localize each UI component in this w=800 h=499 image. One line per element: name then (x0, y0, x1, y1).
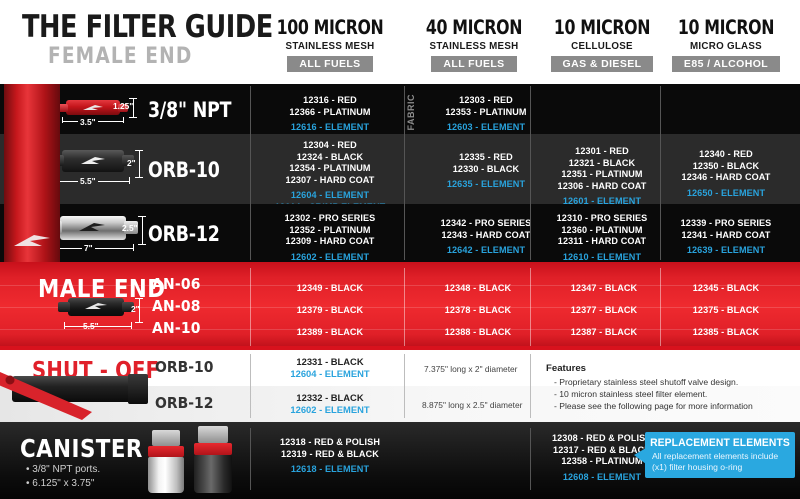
part-number: 12340 - RED (654, 148, 798, 160)
cell-orb12-100micron: 12302 - PRO SERIES 12352 - PLATINUM 1230… (256, 212, 404, 262)
brand-logo-icon (12, 233, 52, 249)
part-number-element: 12603 - ELEMENT (414, 121, 558, 133)
column-divider (530, 86, 531, 260)
column-subtitle: STAINLESS MESH (261, 40, 399, 52)
column-divider (250, 428, 251, 490)
row-label: ORB-10 (148, 158, 220, 182)
part-number: 12304 - RED (258, 139, 402, 151)
part-number: 12389 - BLACK (258, 321, 402, 343)
valve-handle-icon (0, 368, 106, 422)
column-header-40-micron: 40 MICRON STAINLESS MESH ALL FUELS (400, 18, 548, 72)
part-number: 12303 - RED (414, 94, 558, 106)
column-divider (404, 268, 405, 346)
column-badge: ALL FUELS (431, 56, 516, 72)
replacement-elements-callout: REPLACEMENT ELEMENTS All replacement ele… (645, 432, 795, 478)
part-number: 12302 - PRO SERIES (258, 212, 402, 224)
red-divider-top (0, 346, 800, 350)
column-subtitle: MICRO GLASS (657, 40, 795, 52)
row-label-shutoff-orb12: ORB-12 (155, 394, 213, 412)
cell-shutoff-orb12-parts: 12332 - BLACK 12602 - ELEMENT (256, 392, 404, 415)
part-number: 12375 - BLACK (654, 299, 798, 321)
part-number: 12316 - RED (258, 94, 402, 106)
part-number-element: 12639 - ELEMENT (654, 244, 798, 256)
part-number: 12352 - PLATINUM (258, 224, 402, 236)
part-number: 12345 - BLACK (654, 277, 798, 299)
section-title-male-end: MALE END (38, 274, 165, 303)
column-header-100-micron: 100 MICRON STAINLESS MESH ALL FUELS (256, 18, 404, 72)
column-divider (404, 354, 405, 418)
part-number: 12388 - BLACK (406, 321, 550, 343)
female-end-table: 3/8" NPT 3.5" 1.25" 12316 - RED (0, 84, 800, 262)
row-label-an08: AN-08 (152, 297, 201, 315)
part-number: 12332 - BLACK (256, 392, 404, 404)
part-number: 12331 - BLACK (256, 356, 404, 368)
part-number-element: 12650 - ELEMENT (654, 187, 798, 199)
part-number: 12350 - BLACK (654, 160, 798, 172)
cell-canister-100micron: 12318 - RED & POLISH 12319 - RED & BLACK… (256, 436, 404, 475)
column-title: 40 MICRON (407, 18, 540, 38)
column-divider (250, 268, 251, 346)
cell-npt-100micron: 12316 - RED 12366 - PLATINUM 12616 - ELE… (256, 94, 404, 133)
part-number: 12378 - BLACK (406, 299, 550, 321)
part-number-element: 12602 - ELEMENT (256, 404, 404, 416)
part-number-element: 12602 - ELEMENT (258, 251, 402, 263)
part-number: 12353 - PLATINUM (414, 106, 558, 118)
shut-off-section: SHUT - OFF ORB-10 ORB-12 12331 - BLACK 1… (0, 350, 800, 422)
part-number-element: 12618 - ELEMENT (258, 463, 402, 475)
part-number: 12346 - HARD COAT (654, 171, 798, 183)
column-divider (660, 268, 661, 346)
brand-logo-icon (80, 156, 106, 166)
part-number: 12354 - PLATINUM (258, 162, 402, 174)
shutoff-dimension-orb12: 8.875" long x 2.5" diameter (422, 400, 522, 410)
cell-npt-40micron: 12303 - RED 12353 - PLATINUM 12603 - ELE… (412, 94, 560, 133)
column-subtitle: STAINLESS MESH (405, 40, 543, 52)
product-image-large-red-canister (4, 75, 60, 267)
column-badge: GAS & DIESEL (551, 56, 654, 72)
male-end-section: MALE END 5.5" 2" AN-06 AN-08 AN-10 12349… (0, 262, 800, 350)
column-divider (530, 428, 531, 490)
column-divider (250, 354, 251, 418)
column-header-10-micron-micro-glass: 10 MICRON MICRO GLASS E85 / ALCOHOL (652, 18, 800, 72)
table-row-npt: 3/8" NPT 3.5" 1.25" 12316 - RED (0, 84, 800, 134)
cell-orb10-10micron-microglass: 12340 - RED 12350 - BLACK 12346 - HARD C… (652, 148, 800, 198)
feature-item: - Proprietary stainless steel shutoff va… (554, 377, 738, 387)
brand-logo-icon (78, 222, 106, 233)
dimension-diameter: 2" (127, 158, 136, 168)
column-divider (530, 268, 531, 346)
callout-body: All replacement elements include (x1) fi… (652, 451, 792, 472)
page-header: THE FILTER GUIDE FEMALE END 100 MICRON S… (0, 0, 800, 84)
part-number: 12385 - BLACK (654, 321, 798, 343)
table-row-orb10: ORB-10 5.5" 2" 12304 - RED 12324 - (0, 134, 800, 204)
table-row-orb12: ORB-12 7" 2.5" 12302 - PRO SERIES 1 (0, 204, 800, 262)
section-title-canister: CANISTER (20, 434, 143, 463)
cell-orb10-100micron: 12304 - RED 12324 - BLACK 12354 - PLATIN… (256, 139, 404, 213)
column-divider (404, 86, 405, 260)
part-number-element: 12604 - ELEMENT (256, 368, 404, 380)
row-label-an10: AN-10 (152, 319, 201, 337)
part-number: 12379 - BLACK (258, 299, 402, 321)
part-number: 12307 - HARD COAT (258, 174, 402, 186)
part-number: 12339 - PRO SERIES (654, 217, 798, 229)
dimension-diameter: 2.5" (122, 223, 138, 233)
row-label-shutoff-orb10: ORB-10 (155, 358, 213, 376)
row-label: ORB-12 (148, 222, 220, 246)
brand-logo-icon (82, 104, 104, 112)
page-title: THE FILTER GUIDE (22, 9, 273, 45)
part-number: 12341 - HARD COAT (654, 229, 798, 241)
dimension-diameter: 1.25" (113, 101, 133, 111)
filter-guide-page: THE FILTER GUIDE FEMALE END 100 MICRON S… (0, 0, 800, 499)
column-divider (250, 86, 251, 260)
shutoff-dimension-orb10: 7.375" long x 2" diameter (424, 364, 517, 374)
column-title: 10 MICRON (535, 18, 668, 38)
canister-spec-size: • 6.125" x 3.75" (26, 478, 94, 489)
column-title: 10 MICRON (659, 18, 792, 38)
features-title: Features (546, 363, 586, 374)
dimension-length: 7" (82, 243, 95, 253)
part-number: 12319 - RED & BLACK (258, 448, 402, 460)
cell-shutoff-orb10-parts: 12331 - BLACK 12604 - ELEMENT (256, 356, 404, 379)
column-subtitle: CELLULOSE (533, 40, 671, 52)
part-number-element: 12604 - ELEMENT (258, 189, 402, 201)
column-badge: E85 / ALCOHOL (672, 56, 780, 72)
part-number: 12349 - BLACK (258, 277, 402, 299)
dimension-diameter: 2" (131, 304, 140, 314)
canister-spec-ports: • 3/8" NPT ports. (26, 464, 100, 475)
fabric-label: FABRIC (406, 94, 416, 131)
part-number: 12366 - PLATINUM (258, 106, 402, 118)
column-badge: ALL FUELS (287, 56, 372, 72)
feature-item: - 10 micron stainless steel filter eleme… (554, 389, 707, 399)
cell-orb12-10micron-microglass: 12339 - PRO SERIES 12341 - HARD COAT 126… (652, 217, 800, 256)
part-number: 12318 - RED & POLISH (258, 436, 402, 448)
part-number: 12309 - HARD COAT (258, 235, 402, 247)
dimension-length: 5.5" (78, 176, 98, 186)
part-number: 12348 - BLACK (406, 277, 550, 299)
column-title: 100 MICRON (263, 18, 396, 38)
column-divider (660, 86, 661, 260)
row-label: 3/8" NPT (148, 98, 231, 122)
feature-item: - Please see the following page for more… (554, 401, 753, 411)
part-number-element: 12616 - ELEMENT (258, 121, 402, 133)
part-number: 12324 - BLACK (258, 151, 402, 163)
row-label-an06: AN-06 (152, 275, 201, 293)
callout-pointer-icon (634, 448, 646, 464)
callout-title: REPLACEMENT ELEMENTS (650, 437, 791, 449)
column-divider (530, 354, 531, 418)
section-title-female-end: FEMALE END (48, 44, 192, 69)
dimension-length: 3.5" (78, 117, 98, 127)
